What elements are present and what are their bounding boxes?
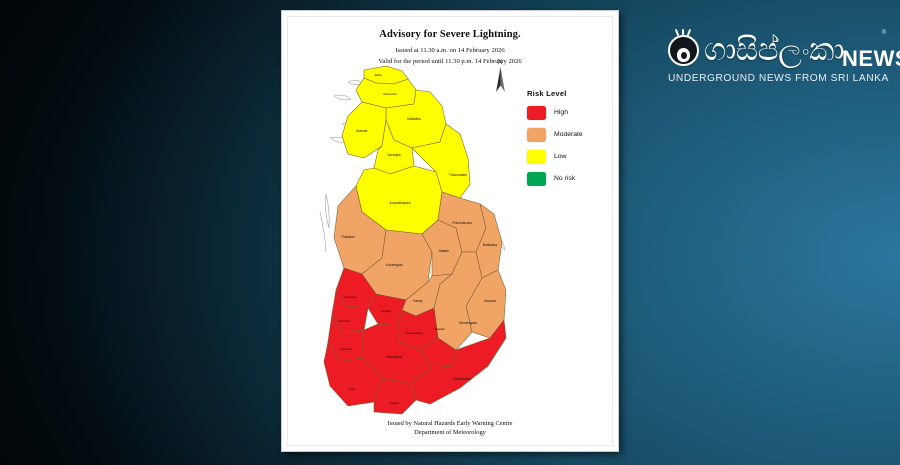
label-puttalam: Puttalam bbox=[341, 235, 354, 239]
eye-ball bbox=[668, 35, 699, 66]
label-matale: Matale bbox=[439, 249, 449, 253]
label-kilinochchi: Kilinochchi bbox=[383, 92, 397, 96]
legend-label-moderate: Moderate bbox=[554, 131, 583, 138]
label-batticaloa: Batticaloa bbox=[483, 243, 498, 247]
advisory-issued-time: Issued at 11.30 a.m. on 14 February 2026 bbox=[282, 47, 618, 54]
label-mannar: Mannar bbox=[356, 129, 368, 133]
label-jaffna: Jaffna bbox=[374, 73, 382, 77]
advisory-title: Advisory for Severe Lightning. bbox=[282, 29, 618, 40]
label-ampara: Ampara bbox=[484, 299, 496, 303]
label-colombo: Colombo bbox=[338, 319, 350, 323]
label-kalutara: Kalutara bbox=[341, 347, 352, 351]
gossip-lanka-news-logo[interactable]: ගාසිප්ලංකා NEWS ® UNDERGROUND NEWS FROM … bbox=[668, 28, 884, 90]
legend-label-low: Low bbox=[554, 153, 566, 160]
logo-sinhala-text: ගාසිප්ලංකා bbox=[704, 33, 844, 67]
screenshot-canvas: Advisory for Severe Lightning. Issued at… bbox=[0, 0, 900, 465]
legend-label-norisk: No risk bbox=[554, 175, 575, 182]
advisory-department: Department of Meteorology bbox=[282, 429, 618, 436]
eye-pupil bbox=[677, 48, 690, 62]
label-anuradhapura: Anuradhapura bbox=[390, 201, 411, 205]
eye-logo-icon bbox=[668, 33, 702, 67]
label-nuwaraeliya: Nuwara Eliya bbox=[405, 331, 422, 335]
eye-pupil-dot bbox=[681, 52, 687, 59]
label-kegalle: Kegalle bbox=[381, 309, 391, 313]
label-polonnaruwa: Polonnaruwa bbox=[452, 221, 471, 225]
label-vavuniya: Vavuniya bbox=[387, 153, 400, 157]
label-kurunegala: Kurunegala bbox=[386, 263, 403, 267]
label-galle: Galle bbox=[349, 387, 356, 391]
label-badulla: Badulla bbox=[435, 327, 445, 331]
legend-label-high: High bbox=[554, 109, 568, 116]
label-kandy: Kandy bbox=[413, 299, 423, 303]
logo-tagline: UNDERGROUND NEWS FROM SRI LANKA bbox=[668, 73, 884, 84]
label-gampaha: Gampaha bbox=[344, 295, 357, 299]
logo-wordmark-row: ගාසිප්ලංකා NEWS ® bbox=[668, 28, 884, 72]
label-ratnapura: Ratnapura bbox=[386, 355, 402, 359]
label-mullaitivu: Mullaitivu bbox=[407, 117, 421, 121]
label-trincomalee: Trincomalee bbox=[449, 173, 467, 177]
map-svg: Jaffna Kilinochchi Mullaitivu Mannar Vav… bbox=[290, 62, 540, 422]
label-moneragala: Moneragala bbox=[459, 321, 477, 325]
sri-lanka-risk-map: Jaffna Kilinochchi Mullaitivu Mannar Vav… bbox=[290, 62, 540, 422]
logo-news-word: NEWS bbox=[842, 48, 900, 72]
label-hambantota: Hambantota bbox=[453, 377, 471, 381]
registered-trademark-icon: ® bbox=[882, 30, 886, 36]
label-matara: Matara bbox=[390, 401, 399, 405]
